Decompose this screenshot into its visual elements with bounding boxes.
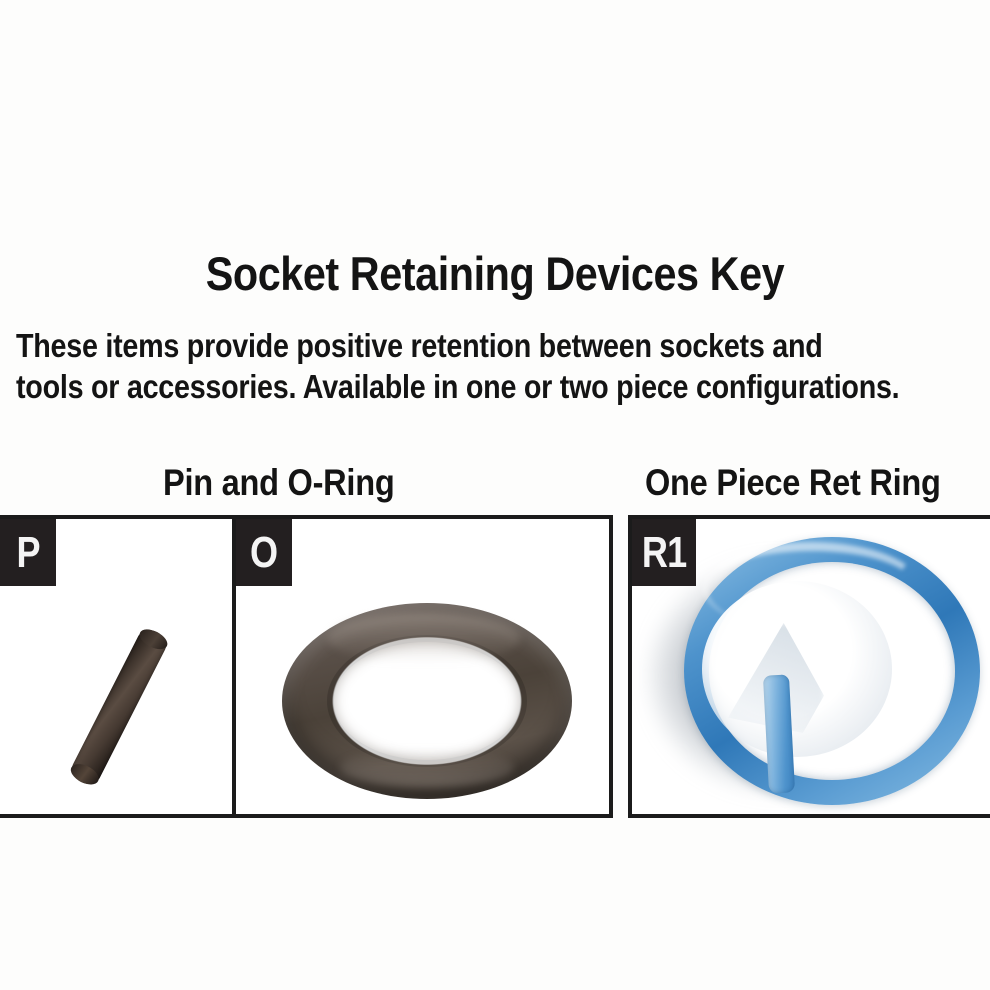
badge-p-label: P <box>16 519 39 586</box>
badge-o: O <box>236 519 292 586</box>
description-line-2: tools or accessories. Available in one o… <box>16 369 869 405</box>
o-ring-inner-hole <box>334 642 520 760</box>
socket-retaining-devices-key-graphic: Socket Retaining Devices Key These items… <box>0 0 990 990</box>
panel-pin: P <box>0 519 236 814</box>
badge-r1: R1 <box>632 519 696 586</box>
page-title: Socket Retaining Devices Key <box>59 248 930 300</box>
panel-o-ring: O <box>236 519 609 814</box>
panel-group-pin-and-o-ring: P O <box>0 515 613 818</box>
pin-rod-shape <box>67 625 170 788</box>
group-caption-pin-and-o-ring: Pin and O-Ring <box>163 462 394 504</box>
o-ring-illustration <box>282 603 572 799</box>
panel-group-one-piece-ret-ring: R1 <box>628 515 990 818</box>
badge-o-label: O <box>250 519 277 586</box>
description-line-1: These items provide positive retention b… <box>16 328 869 364</box>
badge-r1-label: R1 <box>642 519 686 586</box>
badge-p: P <box>0 519 56 586</box>
panel-retaining-ring: R1 <box>632 519 990 814</box>
group-caption-one-piece-ret-ring: One Piece Ret Ring <box>645 462 941 504</box>
